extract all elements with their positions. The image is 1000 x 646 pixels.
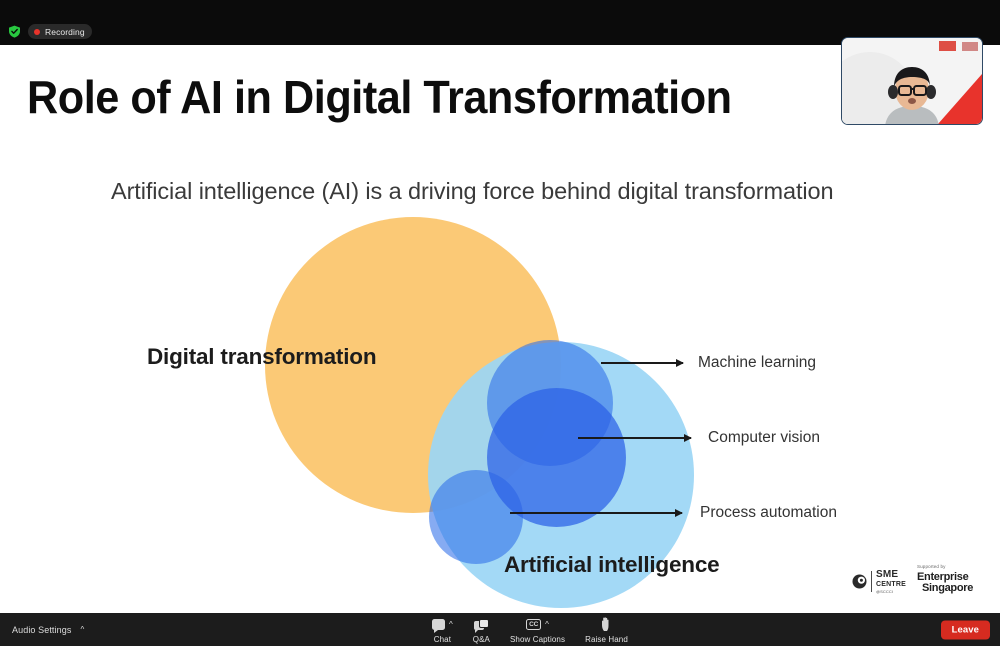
video-branding <box>939 41 978 51</box>
qa-bubbles-icon <box>474 619 489 631</box>
label-artificial-intelligence: Artificial intelligence <box>504 552 719 578</box>
sme-globe-icon <box>852 574 867 589</box>
chat-bubble-icon <box>432 619 445 630</box>
circle-computer-vision <box>487 388 626 527</box>
recording-status-group: Recording <box>8 24 92 39</box>
leave-button[interactable]: Leave <box>941 620 990 639</box>
recording-badge[interactable]: Recording <box>28 24 92 39</box>
venn-diagram: Digital transformation Artificial intell… <box>0 45 1000 613</box>
toolbar-center-group: ^ Chat Q&A CC ^ Show Captions <box>432 616 628 644</box>
recording-dot-icon <box>34 29 40 35</box>
slide-footer-logos: SME CENTRE @SCCCI Supported by Enterpris… <box>852 564 973 594</box>
show-captions-button[interactable]: CC ^ Show Captions <box>510 616 565 644</box>
logo-divider <box>871 571 872 592</box>
chat-button[interactable]: ^ Chat <box>432 616 453 644</box>
callout-process-automation: Process automation <box>700 504 837 522</box>
shared-screen-slide: Role of AI in Digital Transformation Art… <box>0 45 1000 613</box>
participant-avatar <box>873 64 951 125</box>
label-digital-transformation: Digital transformation <box>147 344 376 370</box>
show-captions-label: Show Captions <box>510 635 565 644</box>
enterprise-line-2: Singapore <box>922 583 973 594</box>
audio-settings-button[interactable]: Audio Settings ^ <box>12 625 84 635</box>
shield-check-icon[interactable] <box>8 25 21 38</box>
raise-hand-label: Raise Hand <box>585 635 628 644</box>
recording-label: Recording <box>45 27 85 37</box>
raise-hand-button[interactable]: Raise Hand <box>585 616 628 644</box>
sme-wordmark: SME CENTRE @SCCCI <box>876 570 906 594</box>
arrow-process-automation <box>510 512 682 514</box>
callout-computer-vision: Computer vision <box>708 429 820 447</box>
chat-label: Chat <box>434 635 451 644</box>
brand-mark-2 <box>962 42 978 51</box>
sme-line-3: @SCCCI <box>876 590 906 594</box>
qa-label: Q&A <box>473 635 490 644</box>
meeting-controls-toolbar: Audio Settings ^ ^ Chat Q&A <box>0 613 1000 646</box>
arrow-computer-vision <box>578 437 691 439</box>
enterprise-line-1: Enterprise <box>917 572 973 583</box>
audio-settings-label: Audio Settings <box>12 625 71 635</box>
raise-hand-icon-row <box>601 616 612 633</box>
brand-mark-1 <box>939 41 956 51</box>
raise-hand-icon <box>601 617 612 632</box>
chevron-up-icon[interactable]: ^ <box>80 626 84 634</box>
closed-caption-icon: CC <box>526 619 541 630</box>
speaker-video-tile[interactable] <box>841 37 983 125</box>
chat-icon-row: ^ <box>432 616 453 633</box>
arrow-machine-learning <box>601 362 683 364</box>
sme-line-2: CENTRE <box>876 581 906 588</box>
zoom-meeting-window: Recording Role of AI in Digital Transfor… <box>0 0 1000 646</box>
sme-centre-logo: SME CENTRE @SCCCI <box>852 570 906 594</box>
sme-line-1: SME <box>876 570 906 580</box>
qa-button[interactable]: Q&A <box>473 616 490 644</box>
enterprise-singapore-logo: Supported by Enterprise Singapore <box>917 564 973 594</box>
chevron-up-icon[interactable]: ^ <box>545 621 549 629</box>
supported-by-label: Supported by <box>917 564 973 569</box>
chevron-up-icon[interactable]: ^ <box>449 621 453 629</box>
callout-machine-learning: Machine learning <box>698 354 816 372</box>
captions-icon-row: CC ^ <box>526 616 549 633</box>
qa-icon-row <box>474 616 489 633</box>
